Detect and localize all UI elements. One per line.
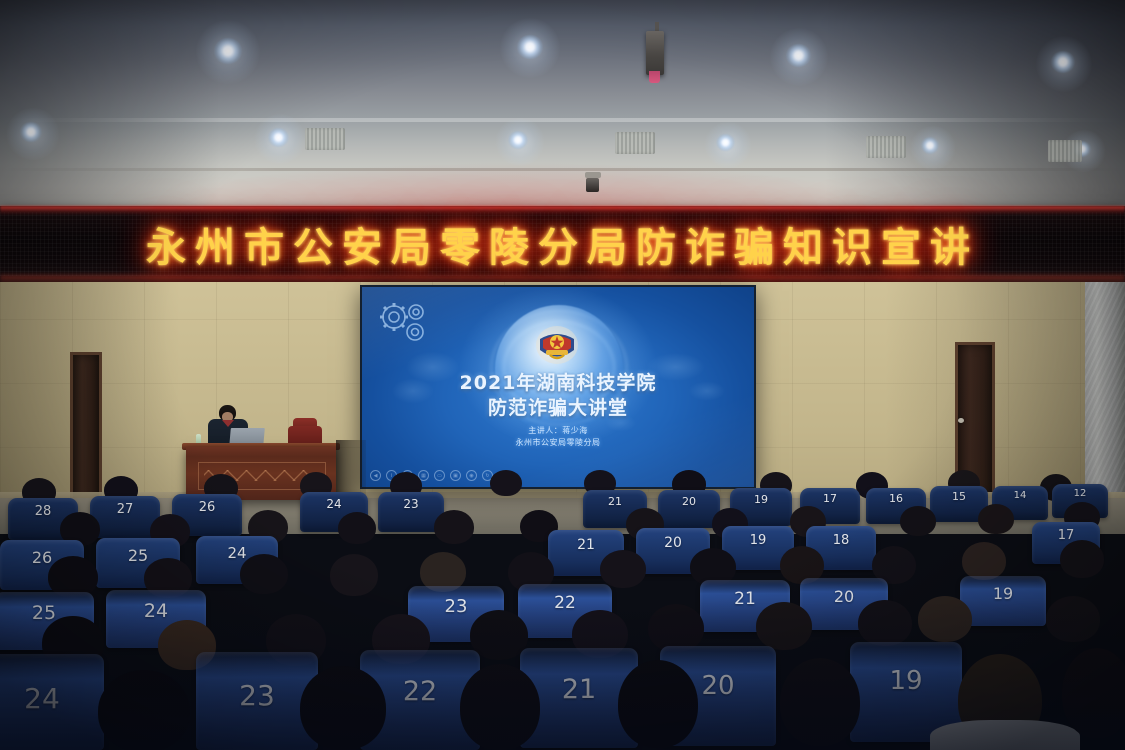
seat-number: 15 bbox=[930, 490, 988, 503]
audience-head bbox=[918, 596, 972, 642]
audience-head bbox=[648, 604, 704, 652]
audience-head bbox=[858, 600, 912, 646]
seat-number: 19 bbox=[722, 533, 794, 548]
audience-shoulder bbox=[930, 720, 1080, 750]
seat-number: 23 bbox=[378, 497, 444, 511]
seat-number: 17 bbox=[800, 492, 860, 505]
seat-number: 21 bbox=[548, 537, 624, 553]
downlight-icon bbox=[716, 134, 735, 151]
audience-head bbox=[300, 666, 386, 750]
audience-seating: 28 27 26 24 23 21 20 19 17 16 15 bbox=[0, 470, 1125, 750]
air-vent bbox=[305, 128, 345, 150]
seat-number: 20 bbox=[658, 495, 720, 508]
audience-head bbox=[900, 506, 936, 536]
audience-head bbox=[490, 470, 522, 496]
seat-number: 19 bbox=[960, 584, 1046, 603]
seat-number: 16 bbox=[866, 492, 926, 505]
seat-number: 20 bbox=[636, 535, 710, 551]
audience-head bbox=[1062, 648, 1125, 738]
audience-head bbox=[780, 658, 860, 746]
ceiling-shadow-left bbox=[0, 0, 220, 212]
seat-number: 21 bbox=[583, 495, 647, 508]
ceiling-shadow-right bbox=[825, 0, 1125, 212]
seat-number: 18 bbox=[806, 533, 876, 548]
downlight-icon bbox=[508, 131, 528, 149]
audience-head bbox=[756, 602, 812, 650]
projection-screen: 2021年湖南科技学院 防范诈骗大讲堂 主讲人：蒋少海 永州市公安局零陵分局 ◀… bbox=[360, 285, 756, 489]
seat-number: 19 bbox=[850, 666, 962, 696]
audience-head bbox=[98, 670, 190, 750]
seat-number: 27 bbox=[90, 502, 160, 517]
audience-head bbox=[470, 610, 528, 660]
downlight-icon bbox=[20, 122, 42, 142]
air-vent bbox=[1048, 140, 1082, 162]
downlight-icon bbox=[214, 38, 242, 64]
audience-head bbox=[330, 554, 378, 596]
seat[interactable]: 24 bbox=[0, 654, 104, 750]
auditorium-photo: 永州市公安局零陵分局防诈骗知识宣讲 bbox=[0, 0, 1125, 750]
audience-head bbox=[962, 542, 1006, 580]
audience-head bbox=[1046, 596, 1100, 642]
downlight-icon bbox=[786, 44, 811, 67]
wall-camera-icon bbox=[586, 178, 599, 192]
audience-head bbox=[338, 512, 376, 544]
audience-head bbox=[460, 664, 540, 750]
audience-head bbox=[1060, 540, 1104, 578]
seat-number: 19 bbox=[730, 493, 792, 506]
audience-head bbox=[434, 510, 474, 544]
audience-head bbox=[240, 554, 288, 594]
ceiling-projector-icon bbox=[646, 31, 664, 75]
downlight-icon bbox=[517, 35, 543, 59]
air-vent bbox=[615, 132, 655, 154]
air-vent bbox=[866, 136, 906, 158]
seat-number: 14 bbox=[992, 490, 1048, 501]
seat-number: 26 bbox=[172, 500, 242, 515]
seat-number: 24 bbox=[106, 600, 206, 622]
audience-head bbox=[600, 550, 646, 588]
seat-number: 12 bbox=[1052, 488, 1108, 499]
led-banner-text: 永州市公安局零陵分局防诈骗知识宣讲 bbox=[0, 214, 1125, 274]
audience-head bbox=[978, 504, 1014, 534]
downlight-icon bbox=[1051, 51, 1075, 73]
seat-number: 24 bbox=[0, 682, 104, 715]
seat-number: 24 bbox=[300, 497, 368, 511]
downlight-icon bbox=[268, 128, 289, 147]
screen-glare bbox=[362, 287, 754, 487]
downlight-icon bbox=[921, 137, 939, 154]
seat[interactable]: 19 bbox=[960, 576, 1046, 626]
audience-head bbox=[618, 660, 698, 748]
seat[interactable]: 20 bbox=[658, 490, 720, 528]
